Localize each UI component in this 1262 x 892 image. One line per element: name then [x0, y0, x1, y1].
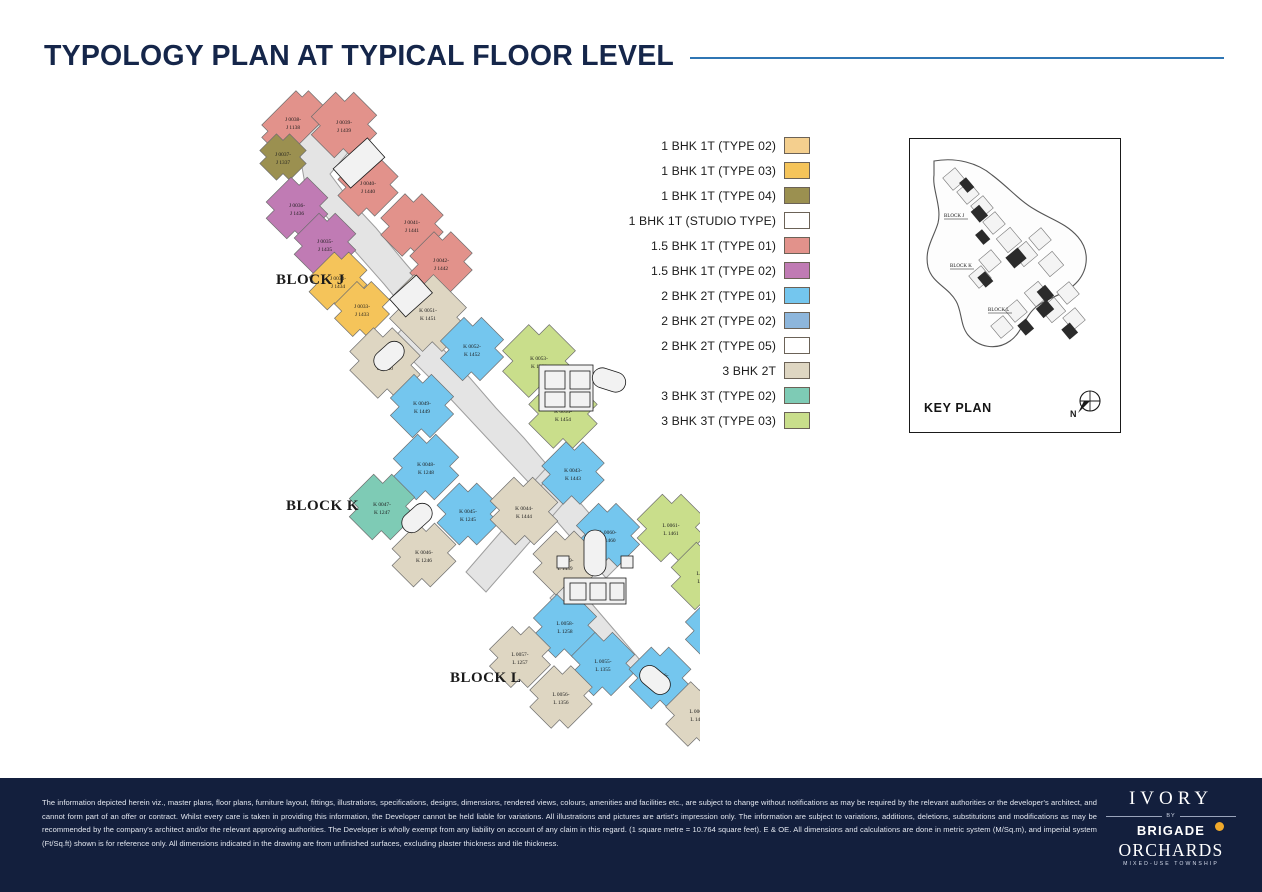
logo-ivory: IVORY [1106, 788, 1236, 810]
north-arrow-icon: N [1064, 387, 1106, 425]
legend-row: 1 BHK 1T (TYPE 04) [600, 186, 810, 205]
legend-swatch [784, 162, 810, 179]
logo-divider: BY [1106, 810, 1236, 822]
legend-label: 1 BHK 1T (TYPE 03) [661, 164, 776, 178]
unit-code-bottom: K 1248 [418, 470, 434, 476]
legend-swatch [784, 287, 810, 304]
unit-code-bottom: J 1441 [405, 228, 420, 234]
unit-code-bottom: L 1258 [557, 629, 573, 635]
legend-label: 3 BHK 2T [722, 364, 776, 378]
legend-swatch [784, 362, 810, 379]
legend-row: 1.5 BHK 1T (TYPE 02) [600, 261, 810, 280]
legend-row: 2 BHK 2T (TYPE 05) [600, 336, 810, 355]
unit-code-bottom: J 1439 [337, 128, 352, 134]
typology-plan-page: TYPOLOGY PLAN AT TYPICAL FLOOR LEVEL J 0… [0, 0, 1262, 892]
legend-row: 1.5 BHK 1T (TYPE 01) [600, 236, 810, 255]
unit-code-top: K 0048- [417, 462, 435, 468]
legend-label: 1.5 BHK 1T (TYPE 02) [651, 264, 776, 278]
legend-label: 1.5 BHK 1T (TYPE 01) [651, 239, 776, 253]
unit-code-top: J 0042- [433, 258, 449, 264]
legend-swatch [784, 262, 810, 279]
unit-code-top: L 0062- [696, 571, 700, 577]
legend-label: 3 BHK 3T (TYPE 03) [661, 414, 776, 428]
unit-code-top: J 0033- [354, 304, 370, 310]
unit-code-top: J 0040- [360, 181, 376, 187]
unit-code-top: K 0044- [515, 506, 533, 512]
key-plan-map: BLOCK J BLOCK K BLOCK L [916, 145, 1116, 395]
unit-code-bottom: K 1451 [420, 316, 436, 322]
legend-row: 1 BHK 1T (TYPE 02) [600, 136, 810, 155]
unit-code-top: J 0035- [317, 239, 333, 245]
unit-code-bottom: L 1461 [663, 531, 679, 537]
legend-label: 2 BHK 2T (TYPE 05) [661, 339, 776, 353]
legend-row: 2 BHK 2T (TYPE 01) [600, 286, 810, 305]
unit-code-bottom: K 1449 [414, 409, 430, 415]
unit-code-bottom: K 1452 [464, 352, 480, 358]
legend-row: 1 BHK 1T (STUDIO TYPE) [600, 211, 810, 230]
block-label-l: BLOCK L [450, 670, 521, 687]
unit-code-top: L 0065- [689, 709, 700, 715]
unit-code-top: K 0043- [564, 468, 582, 474]
legend-row: 3 BHK 2T [600, 361, 810, 380]
unit-code-bottom: J 1138 [286, 125, 300, 131]
legend-swatch [784, 187, 810, 204]
logo-brigade-row: BRIGADE [1106, 822, 1236, 840]
legend-label: 3 BHK 3T (TYPE 02) [661, 389, 776, 403]
legend-swatch [784, 312, 810, 329]
legend-label: 2 BHK 2T (TYPE 02) [661, 314, 776, 328]
legend-row: 2 BHK 2T (TYPE 02) [600, 311, 810, 330]
logo-by: BY [1162, 813, 1179, 819]
footer-band: The information depicted herein viz., ma… [0, 778, 1262, 892]
legend-swatch [784, 137, 810, 154]
legend-row: 3 BHK 3T (TYPE 02) [600, 386, 810, 405]
unit-code-top: J 0036- [289, 203, 305, 209]
legend-label: 1 BHK 1T (STUDIO TYPE) [629, 214, 776, 228]
unit-code-top: K 0049- [413, 401, 431, 407]
unit-code-bottom: J 1337 [276, 160, 291, 166]
block-label-k: BLOCK K [286, 498, 359, 515]
page-header: TYPOLOGY PLAN AT TYPICAL FLOOR LEVEL [44, 36, 1224, 76]
unit-code-bottom: J 1440 [361, 189, 376, 195]
unit-code-top: K 0052- [463, 344, 481, 350]
block-label-j: BLOCK J [276, 272, 345, 289]
key-plan-title: KEY PLAN [924, 401, 992, 415]
legend-swatch [784, 337, 810, 354]
unit-code-bottom: J 1442 [434, 266, 449, 272]
unit-code-bottom: L 1355 [595, 667, 611, 673]
logo-tagline: MIXED-USE TOWNSHIP [1106, 860, 1236, 869]
unit-code-top: L 0055- [594, 659, 611, 665]
keyplan-block-k-label: BLOCK K [950, 264, 972, 269]
legend-swatch [784, 237, 810, 254]
unit-code-top: K 0051- [419, 308, 437, 314]
legend-row: 1 BHK 1T (TYPE 03) [600, 161, 810, 180]
unit-code-top: K 0046- [415, 550, 433, 556]
disclaimer-text: The information depicted herein viz., ma… [42, 796, 1097, 850]
unit-code-bottom: J 1436 [290, 211, 305, 217]
legend-row: 3 BHK 3T (TYPE 03) [600, 411, 810, 430]
legend-label: 1 BHK 1T (TYPE 02) [661, 139, 776, 153]
legend-label: 2 BHK 2T (TYPE 01) [661, 289, 776, 303]
unit-code-bottom: J 1435 [318, 247, 333, 253]
logo-dot-icon [1215, 822, 1224, 831]
legend-swatch [784, 412, 810, 429]
unit-code-bottom: K 1247 [374, 510, 390, 516]
keyplan-block-j-label: BLOCK J [944, 214, 964, 219]
unit-code-bottom: K 1454 [555, 417, 571, 423]
legend-label: 1 BHK 1T (TYPE 04) [661, 189, 776, 203]
unit-code-bottom: K 1246 [416, 558, 432, 564]
unit-code-bottom: K 1444 [516, 514, 532, 520]
unit-code-top: J 0038- [285, 117, 301, 123]
unit-code-top: K 0053- [530, 356, 548, 362]
legend-swatch [784, 387, 810, 404]
unit-code-top: J 0041- [404, 220, 420, 226]
brand-logo: IVORY BY BRIGADE ORCHARDS MIXED-USE TOWN… [1106, 788, 1236, 882]
unit-code-top: L 0058- [556, 621, 573, 627]
unit-code-top: J 0039- [336, 120, 352, 126]
unit-code-top: J 0037- [275, 152, 291, 158]
unit-code-top: L 0057- [511, 652, 528, 658]
logo-orchards: ORCHARDS [1106, 840, 1236, 860]
unit-code-top: L 0061- [662, 523, 679, 529]
unit-code-top: L 0056- [552, 692, 569, 698]
title-divider [690, 57, 1224, 59]
unit-code-bottom: K 1443 [565, 476, 581, 482]
unit-code-bottom: L 1462 [697, 579, 700, 585]
unit-code-top: K 0045- [459, 509, 477, 515]
unit-code-bottom: L 1257 [512, 660, 528, 666]
unit-code-bottom: K 1245 [460, 517, 476, 523]
unit-code-bottom: L 1465 [690, 717, 700, 723]
unit-code-top: K 0047- [373, 502, 391, 508]
page-title: TYPOLOGY PLAN AT TYPICAL FLOOR LEVEL [44, 40, 674, 73]
typology-legend: 1 BHK 1T (TYPE 02)1 BHK 1T (TYPE 03)1 BH… [600, 136, 810, 436]
unit-code-bottom: L 1356 [553, 700, 569, 706]
north-label: N [1070, 409, 1077, 419]
unit-code-bottom: J 1433 [355, 312, 370, 318]
key-plan-panel: BLOCK J BLOCK K BLOCK L KEY PLAN N [909, 138, 1121, 433]
legend-swatch [784, 212, 810, 229]
keyplan-block-l-label: BLOCK L [988, 308, 1009, 313]
